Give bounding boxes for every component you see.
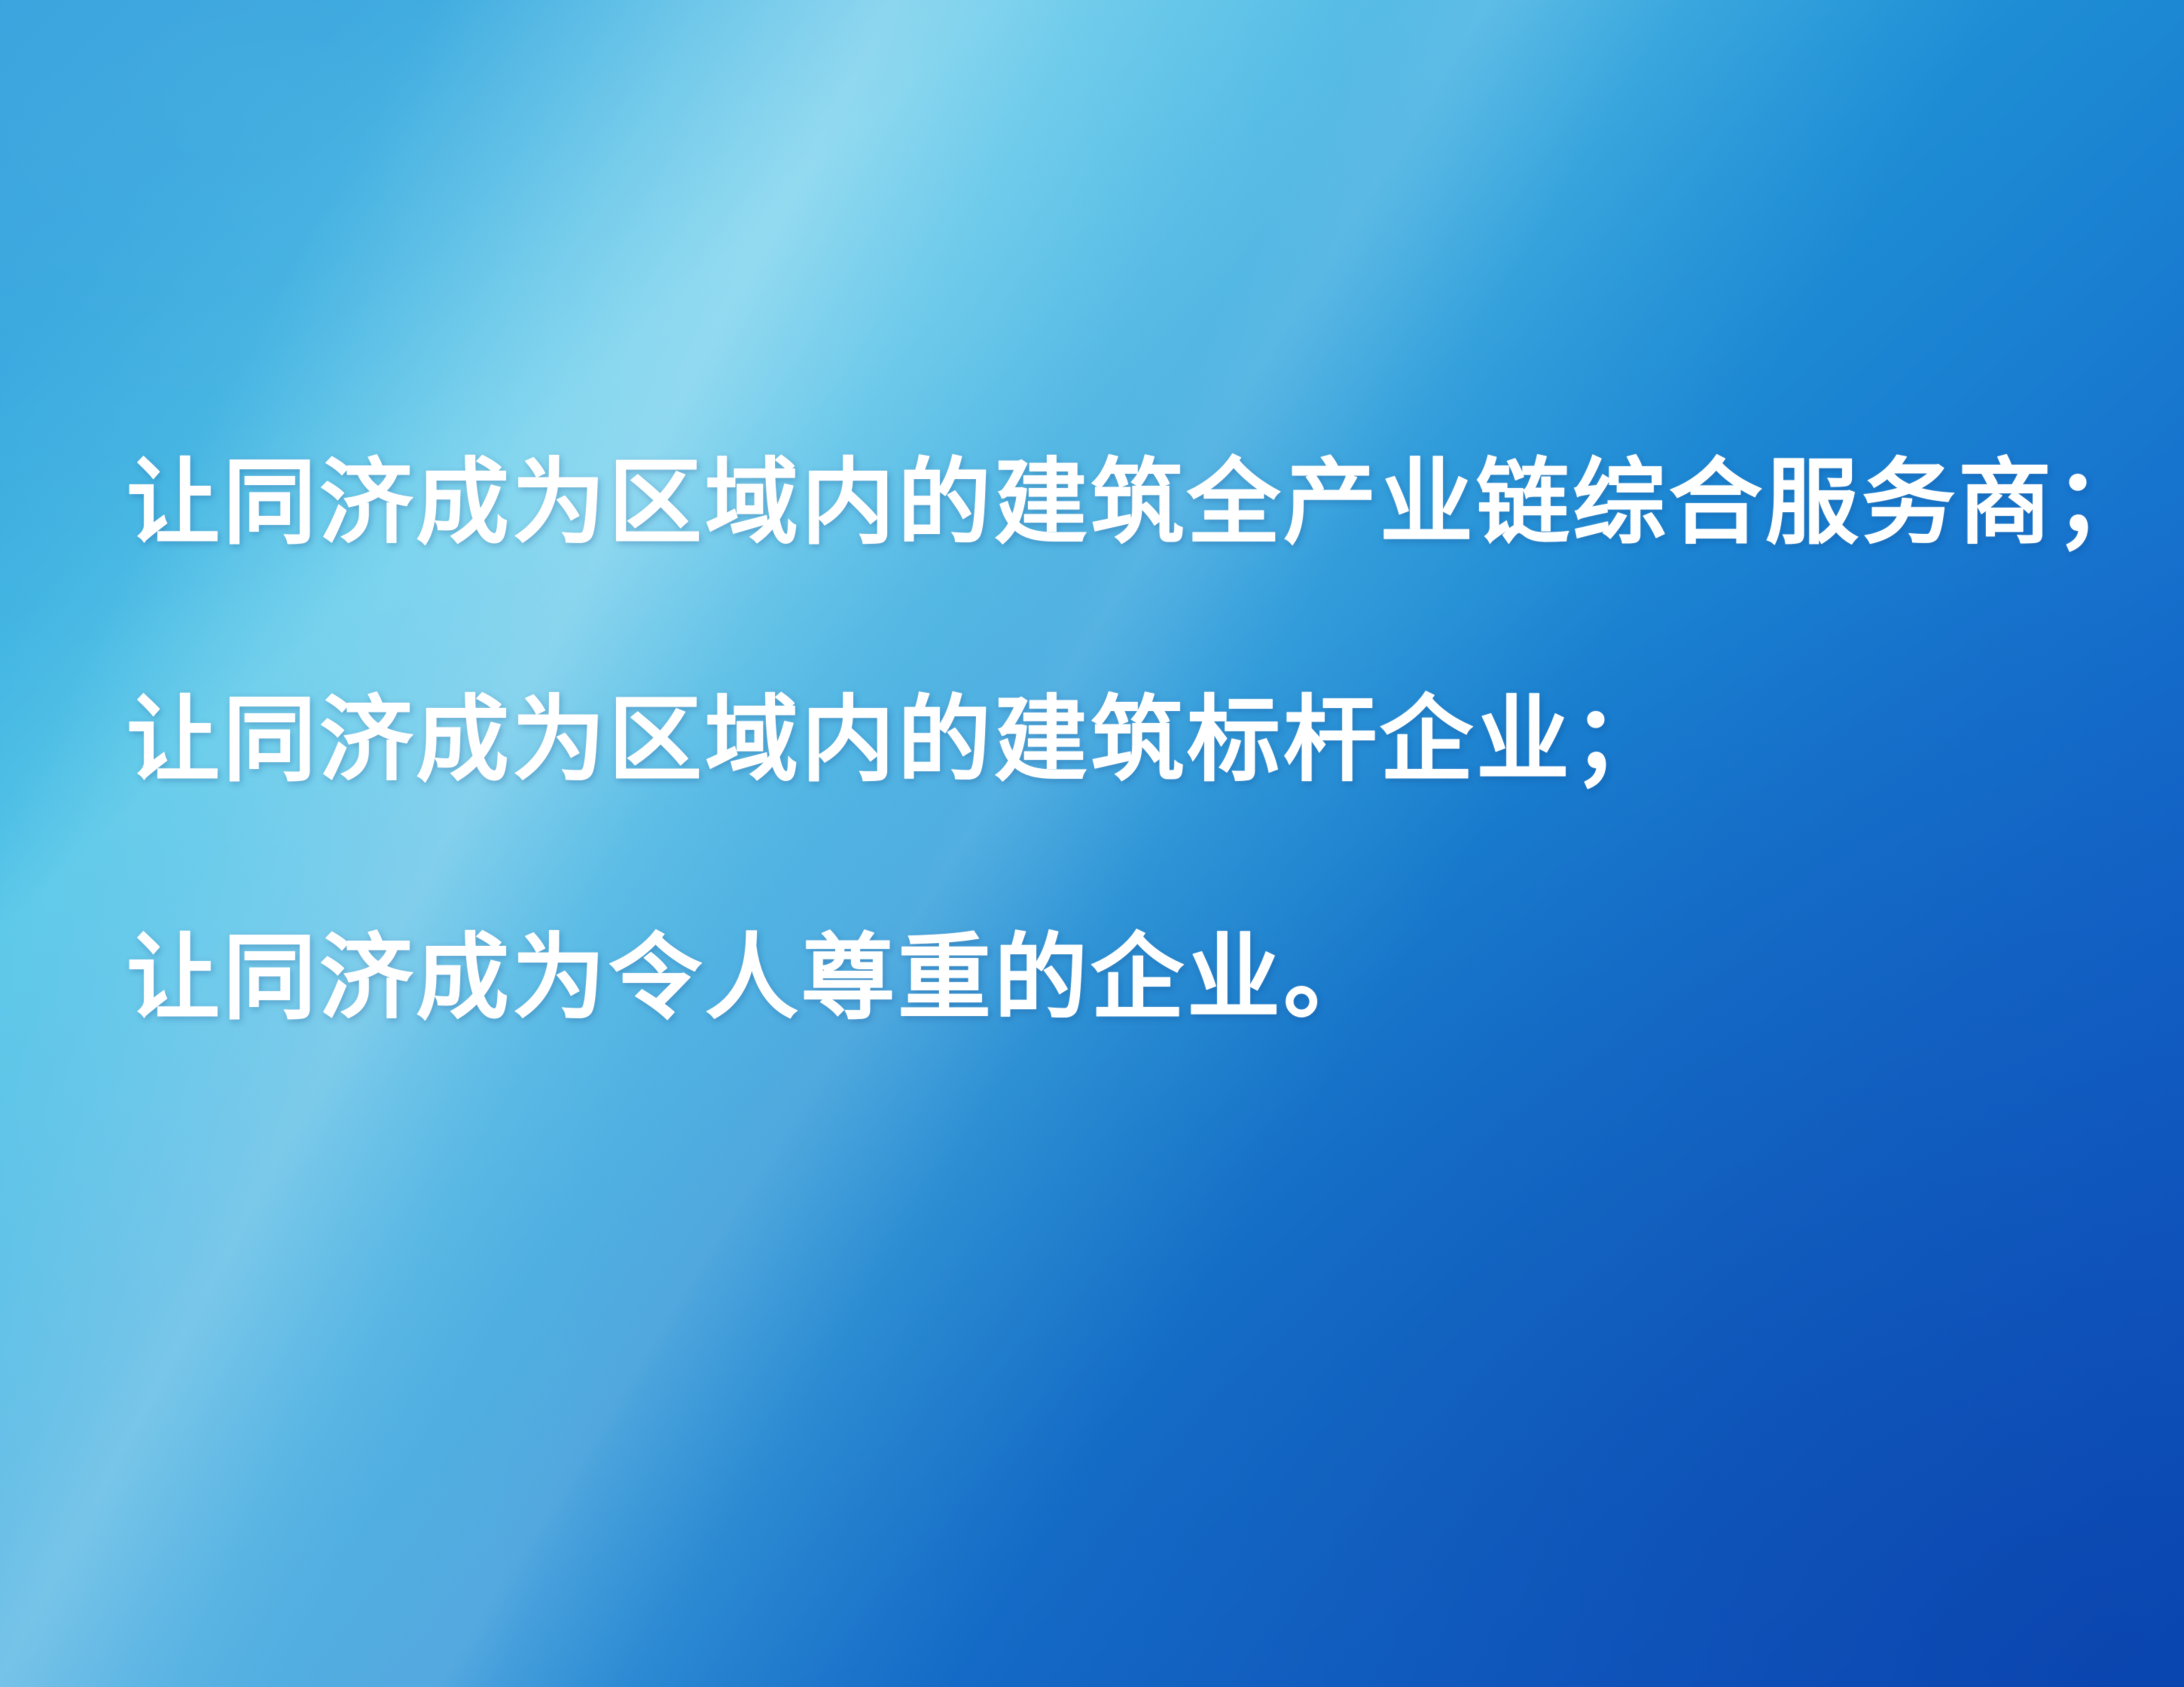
- vision-line-3: 让同济成为令人尊重的企业。: [127, 926, 2100, 1032]
- slide-canvas: 让同济成为区域内的建筑全产业链综合服务商； 让同济成为区域内的建筑标杆企业； 让…: [0, 0, 2184, 1687]
- vision-statement-block: 让同济成为区域内的建筑全产业链综合服务商； 让同济成为区域内的建筑标杆企业； 让…: [127, 450, 2100, 1032]
- vision-line-1: 让同济成为区域内的建筑全产业链综合服务商；: [127, 450, 2100, 557]
- vision-line-2: 让同济成为区域内的建筑标杆企业；: [127, 688, 2100, 794]
